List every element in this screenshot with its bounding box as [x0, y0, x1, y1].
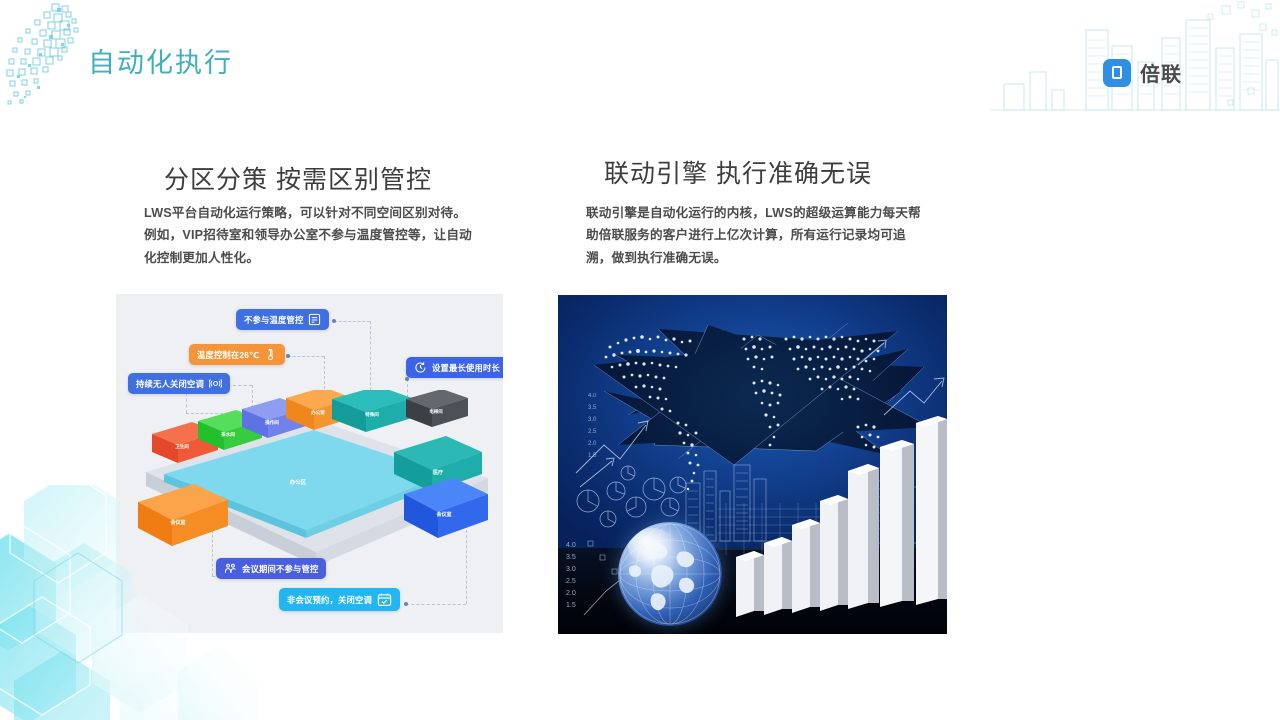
tag-temp-26[interactable]: 温度控制在26℃	[189, 344, 285, 365]
section-body-engine: 联动引擎是自动化运行的内核，LWS的超级运算能力每天帮助倍联服务的客户进行上亿次…	[586, 202, 922, 269]
calendar-check-icon	[377, 592, 392, 607]
tag-no-temp-control[interactable]: 不参与温度管控	[236, 309, 329, 330]
connector-line	[406, 604, 466, 605]
3d-globe	[618, 522, 722, 626]
tag-label: 设置最长使用时长	[432, 362, 500, 374]
room-elevator: 电梯间	[406, 390, 468, 427]
svg-text:电梯间: 电梯间	[429, 408, 443, 415]
meeting-room-icon	[224, 562, 237, 575]
section-title-zoning: 分区分策 按需区别管控	[164, 165, 432, 196]
tag-max-duration[interactable]: 设置最长使用时长	[406, 357, 503, 378]
slide-root: 自动化执行 倍联 分区分策 按需区别管控 LWS平台自动化运行策略，可以针对不同…	[0, 0, 1280, 720]
brand-logo: 倍联	[1103, 58, 1182, 87]
bar-5	[848, 464, 879, 609]
connector-dot	[332, 319, 336, 323]
pixel-mosaic-decoration	[4, 2, 90, 110]
bar-1	[736, 551, 764, 617]
rounded-square-logo-icon	[1103, 59, 1131, 87]
connector-dot	[404, 602, 408, 606]
connector-line	[288, 356, 324, 357]
svg-text:办公室: 办公室	[311, 409, 325, 416]
room-special: 特殊间	[332, 390, 412, 432]
motion-sensor-icon	[209, 377, 222, 390]
timer-icon	[414, 361, 427, 374]
panel-list-icon	[308, 313, 321, 326]
floorplan-automation-diagram: 办公区 卫生间 茶水间	[116, 294, 503, 633]
tag-auto-off-ac[interactable]: 持续无人关闭空调	[128, 373, 230, 394]
global-data-analytics-image: 4.0 3.5 3.0 2.5 2.0 1.5 4.0 3.5 3.0 2.5 …	[558, 295, 947, 634]
bar-4	[820, 495, 848, 611]
svg-text:特殊间: 特殊间	[365, 411, 379, 418]
section-body-zoning: LWS平台自动化运行策略，可以针对不同空间区别对待。例如，VIP招待室和领导办公…	[144, 202, 474, 269]
3d-bar-chart	[558, 295, 947, 634]
connector-dot	[286, 354, 290, 358]
tag-meeting-exempt[interactable]: 会议期间不参与管控	[216, 558, 326, 579]
tag-label: 不参与温度管控	[244, 314, 303, 326]
tag-label: 非会议预约，关闭空调	[287, 594, 372, 606]
tag-no-booking-off-ac[interactable]: 非会议预约，关闭空调	[279, 588, 400, 611]
tag-label: 持续无人关闭空调	[136, 378, 204, 390]
connector-line	[334, 321, 370, 322]
bar-3	[792, 519, 820, 613]
tag-label: 会议期间不参与管控	[242, 563, 318, 575]
section-title-engine: 联动引擎 执行准确无误	[604, 159, 872, 190]
thermometer-icon	[264, 348, 277, 361]
bar-7	[916, 416, 947, 605]
page-title: 自动化执行	[88, 50, 233, 77]
svg-text:会议室: 会议室	[435, 511, 451, 518]
globe-highlight	[628, 528, 676, 563]
brand-name: 倍联	[1140, 58, 1182, 87]
bar-2	[764, 537, 792, 615]
bar-6	[880, 440, 914, 607]
tag-label: 温度控制在26℃	[197, 349, 259, 361]
svg-text:操作间: 操作间	[265, 419, 279, 426]
